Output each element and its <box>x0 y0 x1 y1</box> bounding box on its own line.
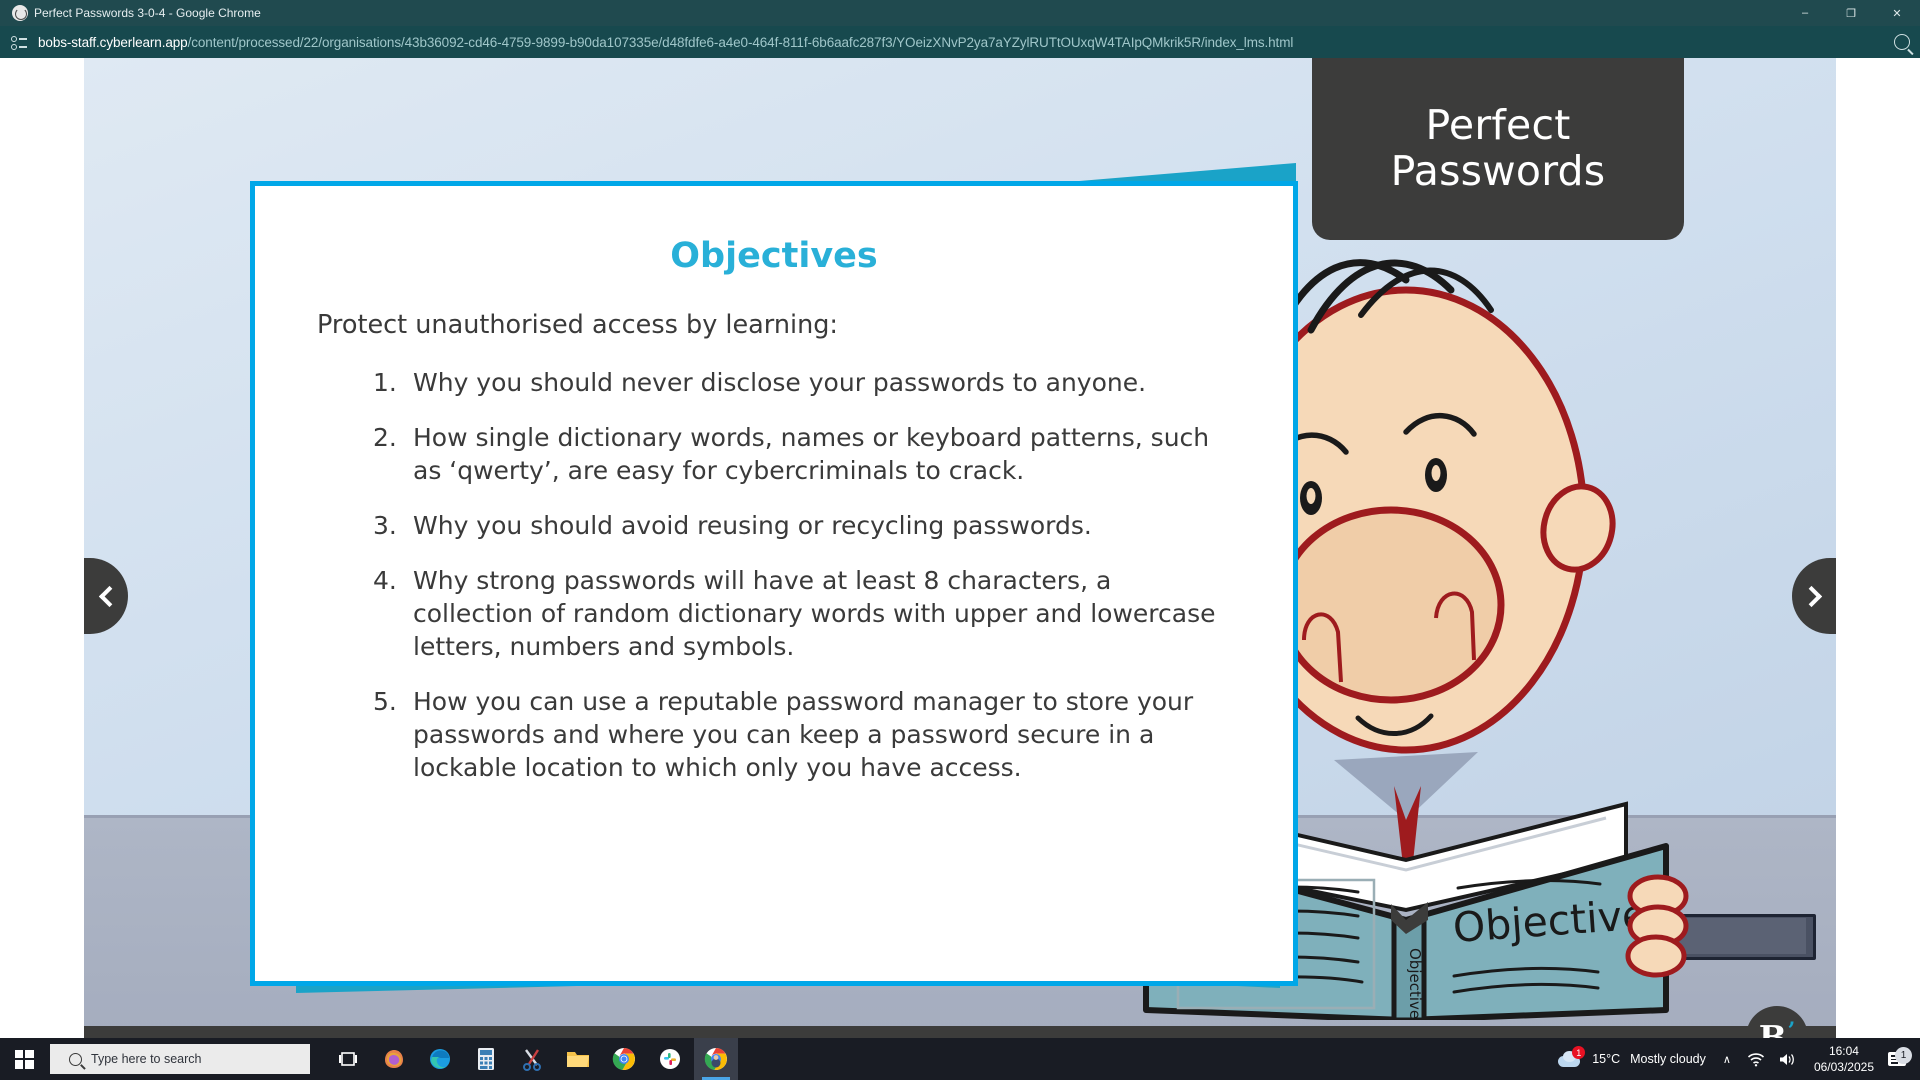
list-item: 2. How single dictionary words, names or… <box>373 421 1237 487</box>
notification-count: 1 <box>1895 1047 1912 1064</box>
chevron-right-icon <box>1800 585 1821 606</box>
windows-logo-icon <box>15 1050 34 1069</box>
zoom-search-icon[interactable] <box>1894 34 1910 50</box>
list-item-text: Why you should avoid reusing or recyclin… <box>413 509 1237 542</box>
taskbar-app-icons <box>326 1038 738 1080</box>
page-viewport: Objectives Objectives <box>0 58 1920 1080</box>
google-chrome-icon[interactable] <box>602 1038 646 1080</box>
course-title-line-2: Passwords <box>1391 149 1606 195</box>
course-title-line-1: Perfect <box>1391 103 1606 149</box>
list-item-number: 1. <box>373 366 413 399</box>
list-item-text: Why you should never disclose your passw… <box>413 366 1237 399</box>
copilot-icon[interactable] <box>372 1038 416 1080</box>
weather-temperature: 15°C <box>1592 1052 1620 1066</box>
list-item-number: 4. <box>373 564 413 663</box>
chrome-browser-window: Perfect Passwords 3-0-4 - Google Chrome … <box>0 0 1920 1080</box>
wifi-icon[interactable] <box>1740 1052 1772 1067</box>
list-item: 3. Why you should avoid reusing or recyc… <box>373 509 1237 542</box>
clock-time: 16:04 <box>1814 1043 1874 1059</box>
site-settings-icon[interactable] <box>10 33 28 51</box>
clock-date: 06/03/2025 <box>1814 1059 1874 1075</box>
weather-description: Mostly cloudy <box>1630 1052 1706 1066</box>
task-view-icon[interactable] <box>326 1038 370 1080</box>
url-host: bobs-staff.cyberlearn.app <box>38 35 188 50</box>
chevron-left-icon <box>98 585 119 606</box>
weather-widget[interactable]: 1 15°C Mostly cloudy <box>1548 1049 1714 1069</box>
maximize-button[interactable]: ❐ <box>1828 0 1874 26</box>
slide-card-stack: Objectives Protect unauthorised access b… <box>250 138 1302 998</box>
objectives-list: 1. Why you should never disclose your pa… <box>373 366 1237 784</box>
browser-address-bar[interactable]: bobs-staff.cyberlearn.app/content/proces… <box>0 26 1920 58</box>
browser-titlebar: Perfect Passwords 3-0-4 - Google Chrome … <box>0 0 1920 26</box>
omnibox-actions <box>1894 26 1910 58</box>
file-explorer-icon[interactable] <box>556 1038 600 1080</box>
list-item-number: 3. <box>373 509 413 542</box>
list-item: 1. Why you should never disclose your pa… <box>373 366 1237 399</box>
course-player-frame: Objectives Objectives <box>84 58 1836 1080</box>
list-item-number: 2. <box>373 421 413 487</box>
list-item-text: How you can use a reputable password man… <box>413 685 1237 784</box>
list-item-text: How single dictionary words, names or ke… <box>413 421 1237 487</box>
list-item: 4. Why strong passwords will have at lea… <box>373 564 1237 663</box>
search-input[interactable]: Type here to search <box>50 1044 310 1074</box>
snipping-tool-icon[interactable] <box>510 1038 554 1080</box>
notifications-button[interactable]: 1 <box>1884 1052 1916 1066</box>
cloud-icon: 1 <box>1556 1049 1584 1069</box>
slack-icon[interactable] <box>648 1038 692 1080</box>
weather-alert-badge: 1 <box>1572 1046 1585 1059</box>
slide-title: Objectives <box>311 236 1237 276</box>
search-placeholder: Type here to search <box>91 1052 201 1066</box>
show-hidden-icons-button[interactable]: ∧ <box>1714 1053 1740 1066</box>
start-button[interactable] <box>0 1038 48 1080</box>
list-item-text: Why strong passwords will have at least … <box>413 564 1237 663</box>
url-path: /content/processed/22/organisations/43b3… <box>188 35 1294 50</box>
google-chrome-active-icon[interactable] <box>694 1038 738 1080</box>
list-item: 5. How you can use a reputable password … <box>373 685 1237 784</box>
window-controls: – ❐ ✕ <box>1782 0 1920 26</box>
windows-taskbar: Type here to search <box>0 1038 1920 1080</box>
course-title-plaque: Perfect Passwords <box>1312 58 1684 240</box>
clock[interactable]: 16:04 06/03/2025 <box>1804 1043 1884 1075</box>
slide-card: Objectives Protect unauthorised access b… <box>250 181 1298 986</box>
search-icon <box>69 1053 82 1066</box>
close-button[interactable]: ✕ <box>1874 0 1920 26</box>
calculator-icon[interactable] <box>464 1038 508 1080</box>
url-text[interactable]: bobs-staff.cyberlearn.app/content/proces… <box>38 35 1293 50</box>
system-tray: 1 15°C Mostly cloudy ∧ 16:04 06/03/2025 … <box>1548 1038 1920 1080</box>
list-item-number: 5. <box>373 685 413 784</box>
minimize-button[interactable]: – <box>1782 0 1828 26</box>
book-spine-label: Objectives <box>1406 948 1424 1020</box>
tab-favicon <box>12 5 28 21</box>
volume-icon[interactable] <box>1772 1052 1804 1067</box>
tab-title[interactable]: Perfect Passwords 3-0-4 - Google Chrome <box>34 6 261 20</box>
microsoft-edge-icon[interactable] <box>418 1038 462 1080</box>
slide-lead-text: Protect unauthorised access by learning: <box>317 310 1237 340</box>
